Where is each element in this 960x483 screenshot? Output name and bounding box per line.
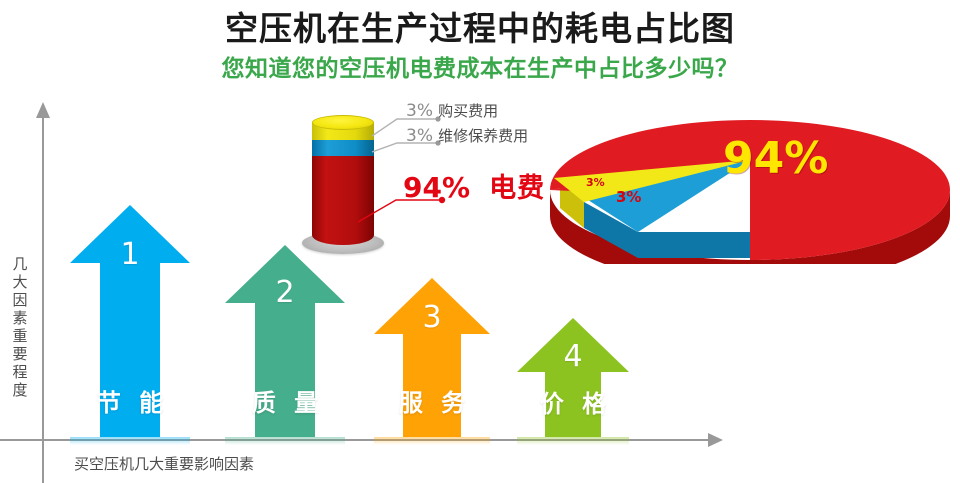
pie-label-maintenance: 3% <box>616 188 641 206</box>
callout-purchase-text: 购买费用 <box>438 102 498 120</box>
pie-label-electricity: 94% <box>723 133 828 184</box>
callout-maintenance-text: 维修保养费用 <box>438 127 528 145</box>
callout-electricity-percent: 94% <box>403 171 470 204</box>
callout-maintenance-percent: 3% <box>406 126 433 146</box>
pie-chart-3d: 94% 3% 3% <box>548 116 952 264</box>
callout-electricity: 94% 电费 <box>403 166 545 205</box>
pie-label-purchase: 3% <box>586 176 605 189</box>
infographic-canvas: 空压机在生产过程中的耗电占比图 您知道您的空压机电费成本在生产中占比多少吗？ 几… <box>0 0 960 483</box>
pie-blue-depth-front <box>638 232 763 258</box>
callout-electricity-text: 电费 <box>489 173 545 204</box>
callout-maintenance: 3% 维修保养费用 <box>406 125 528 146</box>
callout-purchase: 3% 购买费用 <box>406 100 498 121</box>
callout-purchase-percent: 3% <box>406 101 433 121</box>
